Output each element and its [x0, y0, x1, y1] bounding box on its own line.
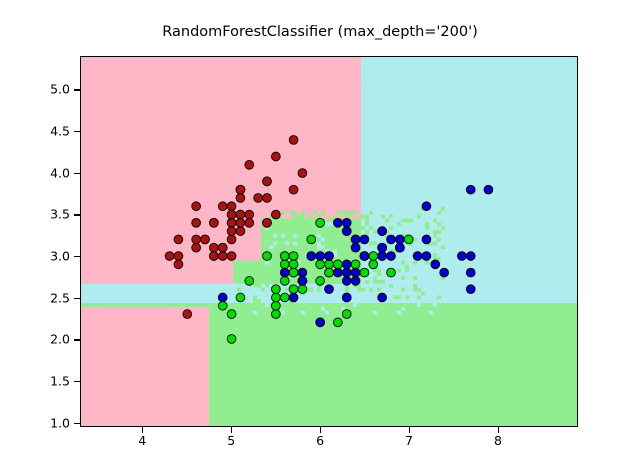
y-tick-label: 4.0 [4, 165, 70, 180]
x-tick-mark [142, 427, 143, 433]
y-tick-label: 3.5 [4, 207, 70, 222]
x-tick-mark [409, 427, 410, 433]
y-tick-label: 5.0 [4, 82, 70, 97]
y-tick-mark [74, 173, 80, 174]
x-tick-mark [231, 427, 232, 433]
y-tick-mark [74, 214, 80, 215]
x-tick-label: 7 [405, 433, 413, 448]
y-tick-label: 4.5 [4, 124, 70, 139]
y-tick-mark [74, 89, 80, 90]
x-tick-label: 4 [138, 433, 146, 448]
y-tick-mark [74, 298, 80, 299]
y-tick-label: 1.0 [4, 415, 70, 430]
y-tick-label: 1.5 [4, 374, 70, 389]
x-axis-tick-labels: 45678 [0, 433, 640, 457]
y-tick-mark [74, 256, 80, 257]
scatter-points-layer [81, 57, 577, 426]
x-tick-mark [320, 427, 321, 433]
y-tick-label: 2.5 [4, 290, 70, 305]
y-tick-label: 2.0 [4, 332, 70, 347]
y-tick-mark [74, 381, 80, 382]
y-tick-label: 3.0 [4, 249, 70, 264]
x-tick-mark [498, 427, 499, 433]
x-tick-label: 5 [227, 433, 235, 448]
matplotlib-figure: RandomForestClassifier (max_depth='200')… [0, 0, 640, 476]
y-tick-mark [74, 339, 80, 340]
x-tick-label: 6 [316, 433, 324, 448]
y-axis-tick-labels: 1.01.52.02.53.03.54.04.55.0 [0, 0, 70, 476]
plot-axes [80, 56, 578, 427]
x-tick-label: 8 [494, 433, 502, 448]
chart-title: RandomForestClassifier (max_depth='200') [0, 24, 640, 40]
y-tick-mark [74, 423, 80, 424]
y-tick-mark [74, 131, 80, 132]
